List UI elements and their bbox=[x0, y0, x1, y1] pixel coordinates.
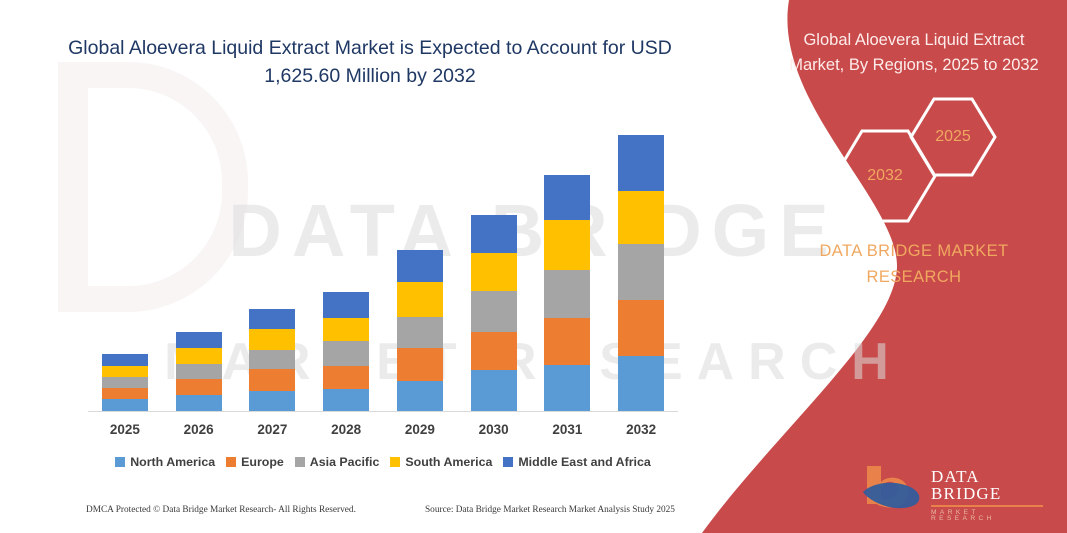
bar-slot bbox=[162, 332, 236, 411]
bar-segment[interactable] bbox=[471, 332, 517, 370]
bar-segment[interactable] bbox=[471, 291, 517, 332]
bar-segment[interactable] bbox=[397, 317, 443, 348]
stacked-bar[interactable] bbox=[618, 135, 664, 411]
legend-swatch-icon bbox=[390, 457, 400, 467]
legend-item[interactable]: Asia Pacific bbox=[295, 455, 380, 469]
x-axis-tick-label: 2028 bbox=[309, 422, 383, 437]
bar-segment[interactable] bbox=[544, 318, 590, 365]
bar-segment[interactable] bbox=[249, 350, 295, 369]
legend-swatch-icon bbox=[115, 457, 125, 467]
bar-slot bbox=[531, 175, 605, 411]
bar-slot bbox=[383, 250, 457, 411]
legend-label: Middle East and Africa bbox=[518, 455, 650, 469]
x-axis-tick-label: 2030 bbox=[457, 422, 531, 437]
logo-subtitle: MARKET RESEARCH bbox=[931, 510, 1047, 523]
x-axis-tick-label: 2025 bbox=[88, 422, 162, 437]
legend-item[interactable]: Europe bbox=[226, 455, 284, 469]
bar-segment[interactable] bbox=[176, 379, 222, 395]
axis-baseline bbox=[88, 411, 678, 412]
legend-item[interactable]: North America bbox=[115, 455, 215, 469]
logo-text: DATA BRIDGE MARKET RESEARCH bbox=[931, 468, 1047, 523]
brand-name: DATA BRIDGE MARKET RESEARCH bbox=[779, 238, 1049, 291]
bar-segment[interactable] bbox=[102, 377, 148, 388]
bar-segment[interactable] bbox=[544, 270, 590, 318]
bar-segment[interactable] bbox=[544, 175, 590, 220]
legend-item[interactable]: South America bbox=[390, 455, 492, 469]
bar-segment[interactable] bbox=[471, 370, 517, 411]
bar-segment[interactable] bbox=[544, 220, 590, 270]
bar-group bbox=[88, 110, 678, 411]
bar-slot bbox=[88, 354, 162, 411]
bar-segment[interactable] bbox=[249, 391, 295, 411]
bar-segment[interactable] bbox=[102, 366, 148, 377]
stacked-bar[interactable] bbox=[102, 354, 148, 411]
chart-area: Global Aloevera Liquid Extract Market is… bbox=[0, 0, 700, 533]
bar-segment[interactable] bbox=[102, 354, 148, 366]
x-axis-tick-label: 2026 bbox=[162, 422, 236, 437]
bar-segment[interactable] bbox=[397, 250, 443, 282]
legend-label: Europe bbox=[241, 455, 284, 469]
stacked-bar[interactable] bbox=[544, 175, 590, 411]
stacked-bar[interactable] bbox=[176, 332, 222, 411]
stacked-bar[interactable] bbox=[471, 215, 517, 411]
hexagon-2032: 2032 bbox=[831, 128, 939, 224]
bar-segment[interactable] bbox=[176, 395, 222, 411]
right-panel-title: Global Aloevera Liquid Extract Market, B… bbox=[779, 28, 1049, 78]
bar-segment[interactable] bbox=[323, 292, 369, 318]
company-logo: DATA BRIDGE MARKET RESEARCH bbox=[861, 460, 1047, 516]
bar-segment[interactable] bbox=[618, 356, 664, 411]
footer-source: Source: Data Bridge Market Research Mark… bbox=[425, 505, 675, 515]
chart-legend: North AmericaEuropeAsia PacificSouth Ame… bbox=[88, 455, 678, 469]
bar-segment[interactable] bbox=[323, 389, 369, 411]
stacked-bar[interactable] bbox=[397, 250, 443, 411]
bar-segment[interactable] bbox=[249, 309, 295, 329]
bar-segment[interactable] bbox=[102, 388, 148, 399]
x-axis-tick-label: 2029 bbox=[383, 422, 457, 437]
legend-swatch-icon bbox=[226, 457, 236, 467]
bar-segment[interactable] bbox=[176, 348, 222, 364]
bar-segment[interactable] bbox=[471, 215, 517, 253]
legend-label: South America bbox=[405, 455, 492, 469]
bar-segment[interactable] bbox=[323, 318, 369, 341]
legend-item[interactable]: Middle East and Africa bbox=[503, 455, 650, 469]
bar-slot bbox=[309, 292, 383, 411]
legend-label: Asia Pacific bbox=[310, 455, 380, 469]
bar-segment[interactable] bbox=[249, 369, 295, 391]
x-axis-labels: 20252026202720282029203020312032 bbox=[88, 422, 678, 437]
footer-copyright: DMCA Protected © Data Bridge Market Rese… bbox=[86, 505, 356, 515]
bar-slot bbox=[457, 215, 531, 411]
bar-segment[interactable] bbox=[323, 366, 369, 389]
bar-segment[interactable] bbox=[618, 244, 664, 300]
bar-segment[interactable] bbox=[471, 253, 517, 291]
bar-segment[interactable] bbox=[397, 348, 443, 381]
legend-swatch-icon bbox=[503, 457, 513, 467]
bar-segment[interactable] bbox=[618, 191, 664, 244]
hexagon-group: 2025 2032 bbox=[807, 96, 1007, 216]
bar-segment[interactable] bbox=[544, 365, 590, 411]
logo-mark-icon bbox=[861, 462, 925, 512]
right-panel: Global Aloevera Liquid Extract Market, B… bbox=[667, 0, 1067, 533]
bar-segment[interactable] bbox=[397, 381, 443, 411]
infographic-canvas: DATA BRIDGE MARKET RESEARCH Global Aloev… bbox=[0, 0, 1067, 533]
stacked-bar[interactable] bbox=[249, 309, 295, 411]
bar-segment[interactable] bbox=[618, 135, 664, 191]
plot-region bbox=[88, 110, 678, 412]
chart-title: Global Aloevera Liquid Extract Market is… bbox=[60, 34, 680, 91]
hexagon-2032-label: 2032 bbox=[831, 128, 939, 224]
legend-swatch-icon bbox=[295, 457, 305, 467]
logo-divider bbox=[931, 505, 1043, 507]
bar-segment[interactable] bbox=[176, 332, 222, 348]
stacked-bar[interactable] bbox=[323, 292, 369, 411]
x-axis-tick-label: 2027 bbox=[236, 422, 310, 437]
legend-label: North America bbox=[130, 455, 215, 469]
x-axis-tick-label: 2031 bbox=[531, 422, 605, 437]
bar-segment[interactable] bbox=[618, 300, 664, 356]
bar-segment[interactable] bbox=[102, 399, 148, 411]
logo-title: DATA BRIDGE bbox=[931, 468, 1047, 502]
bar-segment[interactable] bbox=[397, 282, 443, 317]
bar-segment[interactable] bbox=[323, 341, 369, 366]
bar-segment[interactable] bbox=[249, 329, 295, 350]
bar-slot bbox=[236, 309, 310, 411]
bar-segment[interactable] bbox=[176, 364, 222, 379]
